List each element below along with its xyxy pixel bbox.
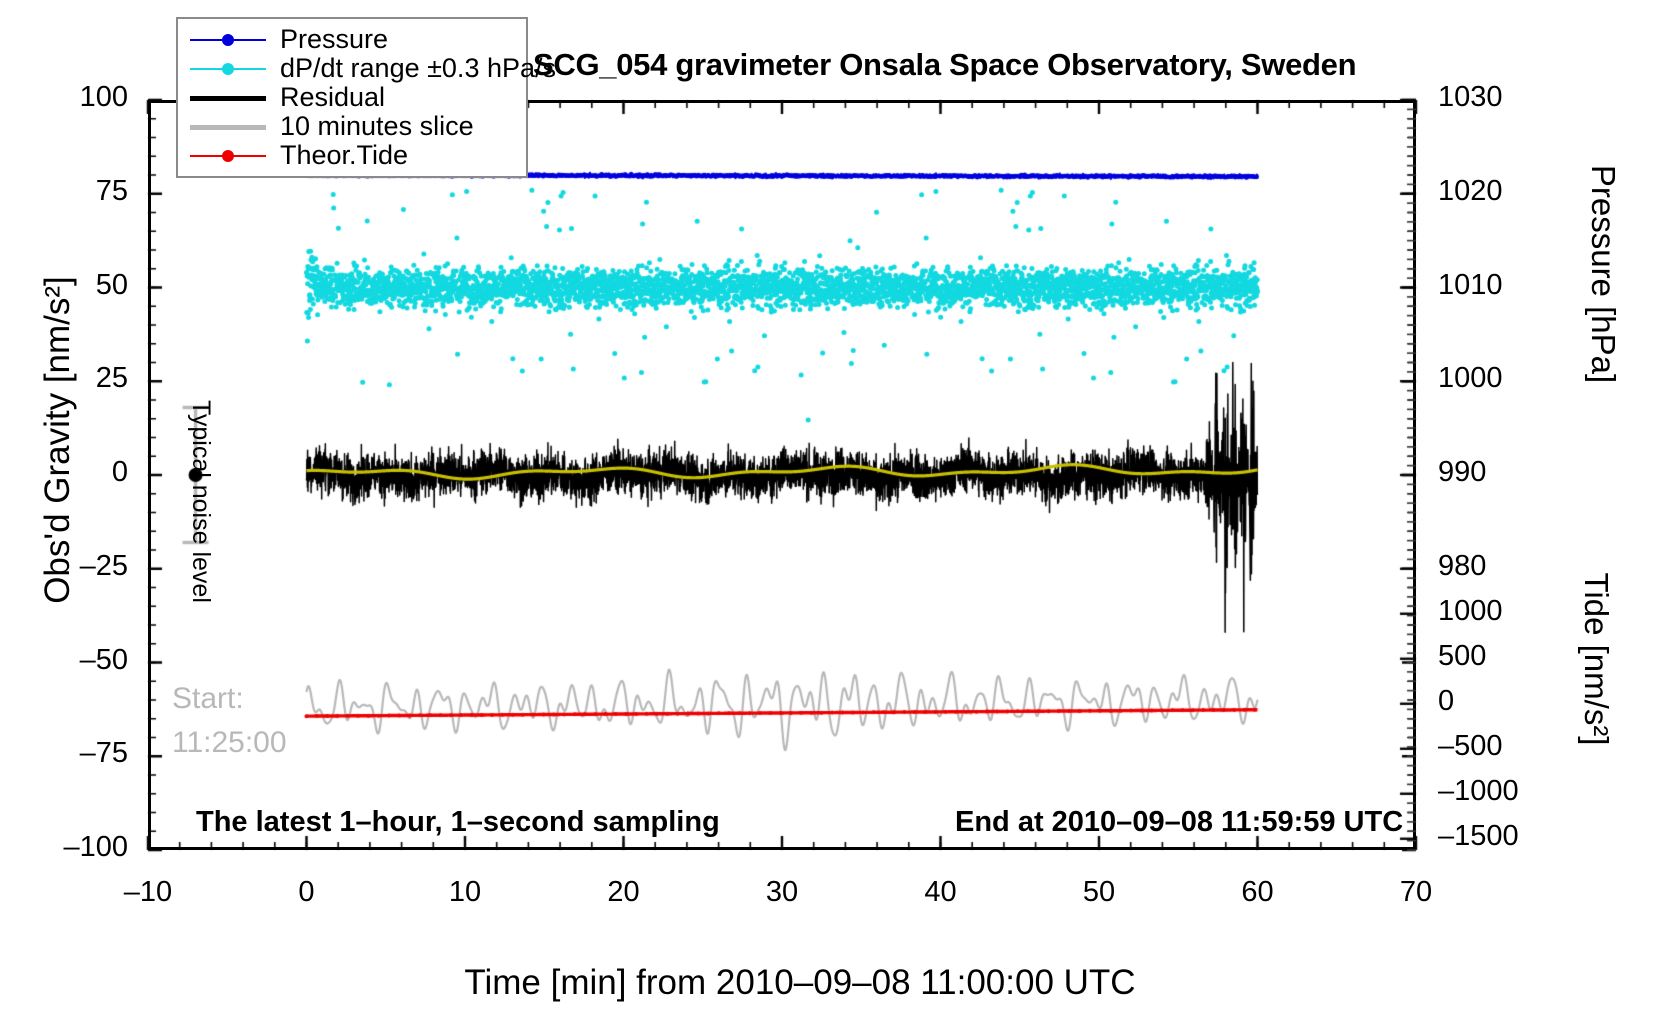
start-label: Start: bbox=[172, 682, 244, 716]
y-axis-label-right-pressure: Pressure [hPa] bbox=[1584, 139, 1622, 409]
ticks-bottom-label: 30 bbox=[722, 876, 842, 909]
ticks-right-p-label: 1000 bbox=[1438, 362, 1528, 395]
ticks-right-t-label: –500 bbox=[1438, 730, 1528, 763]
legend-item-label: 10 minutes slice bbox=[280, 111, 474, 142]
ticks-bottom-label: 50 bbox=[1039, 876, 1159, 909]
ticks-bottom-label: 40 bbox=[881, 876, 1001, 909]
ticks-left-label: 100 bbox=[0, 81, 128, 114]
ticks-left-label: 0 bbox=[0, 456, 128, 489]
ticks-right-t-label: –1500 bbox=[1438, 820, 1528, 853]
legend-item-label: Residual bbox=[280, 82, 385, 113]
plot-area bbox=[148, 100, 1416, 850]
ticks-left-label: 75 bbox=[0, 175, 128, 208]
ticks-bottom-label: 20 bbox=[564, 876, 684, 909]
ticks-right-p-label: 990 bbox=[1438, 456, 1528, 489]
ticks-left-label: –75 bbox=[0, 737, 128, 770]
ticks-bottom-label: 60 bbox=[1198, 876, 1318, 909]
ticks-right-p-label: 1020 bbox=[1438, 175, 1528, 208]
legend-item-10-minutes-slice[interactable]: 10 minutes slice bbox=[182, 112, 522, 141]
legend-swatch-icon bbox=[188, 57, 268, 81]
ticks-right-t-label: 500 bbox=[1438, 640, 1528, 673]
ticks-bottom-label: 10 bbox=[405, 876, 525, 909]
chart-title: SCG_054 gravimeter Onsala Space Observat… bbox=[533, 47, 1356, 83]
legend-item-label: Theor.Tide bbox=[280, 140, 408, 171]
ticks-right-p-label: 1030 bbox=[1438, 81, 1528, 114]
chart-legend[interactable]: PressuredP/dt range ±0.3 hPa/sResidual10… bbox=[176, 17, 528, 178]
ticks-left-label: 50 bbox=[0, 269, 128, 302]
legend-item-label: Pressure bbox=[280, 24, 388, 55]
legend-swatch-icon bbox=[188, 86, 268, 110]
end-time-caption: End at 2010–09–08 11:59:59 UTC bbox=[955, 806, 1403, 839]
ticks-left-label: –50 bbox=[0, 644, 128, 677]
legend-item-pressure[interactable]: Pressure bbox=[182, 25, 522, 54]
ticks-bottom-label: –10 bbox=[88, 876, 208, 909]
chart-page: SCG_054 gravimeter Onsala Space Observat… bbox=[0, 0, 1676, 1020]
y-axis-label-right-tide: Tide [nm/s²] bbox=[1577, 539, 1615, 779]
legend-item-residual[interactable]: Residual bbox=[182, 83, 522, 112]
legend-swatch-icon bbox=[188, 144, 268, 168]
ticks-bottom-label: 70 bbox=[1356, 876, 1476, 909]
legend-swatch-icon bbox=[188, 28, 268, 52]
ticks-left-label: –25 bbox=[0, 550, 128, 583]
ticks-bottom-label: 0 bbox=[247, 876, 367, 909]
legend-item-label: dP/dt range ±0.3 hPa/s bbox=[280, 53, 556, 84]
legend-item-theor-tide[interactable]: Theor.Tide bbox=[182, 141, 522, 170]
ticks-right-t-label: 1000 bbox=[1438, 595, 1528, 628]
legend-swatch-icon bbox=[188, 115, 268, 139]
ticks-left-label: –100 bbox=[0, 831, 128, 864]
legend-item-dp-dt-range-0-3-hpa-s[interactable]: dP/dt range ±0.3 hPa/s bbox=[182, 54, 522, 83]
ticks-right-t-label: 0 bbox=[1438, 685, 1528, 718]
x-axis-label: Time [min] from 2010–09–08 11:00:00 UTC bbox=[300, 963, 1300, 1003]
sampling-caption: The latest 1–hour, 1–second sampling bbox=[196, 806, 720, 839]
typical-noise-level-label: Typical noise level bbox=[186, 400, 215, 603]
ticks-right-p-label: 1010 bbox=[1438, 269, 1528, 302]
ticks-left-label: 25 bbox=[0, 362, 128, 395]
start-time-value: 11:25:00 bbox=[172, 726, 287, 760]
ticks-right-p-label: 980 bbox=[1438, 550, 1528, 583]
ticks-right-t-label: –1000 bbox=[1438, 775, 1528, 808]
